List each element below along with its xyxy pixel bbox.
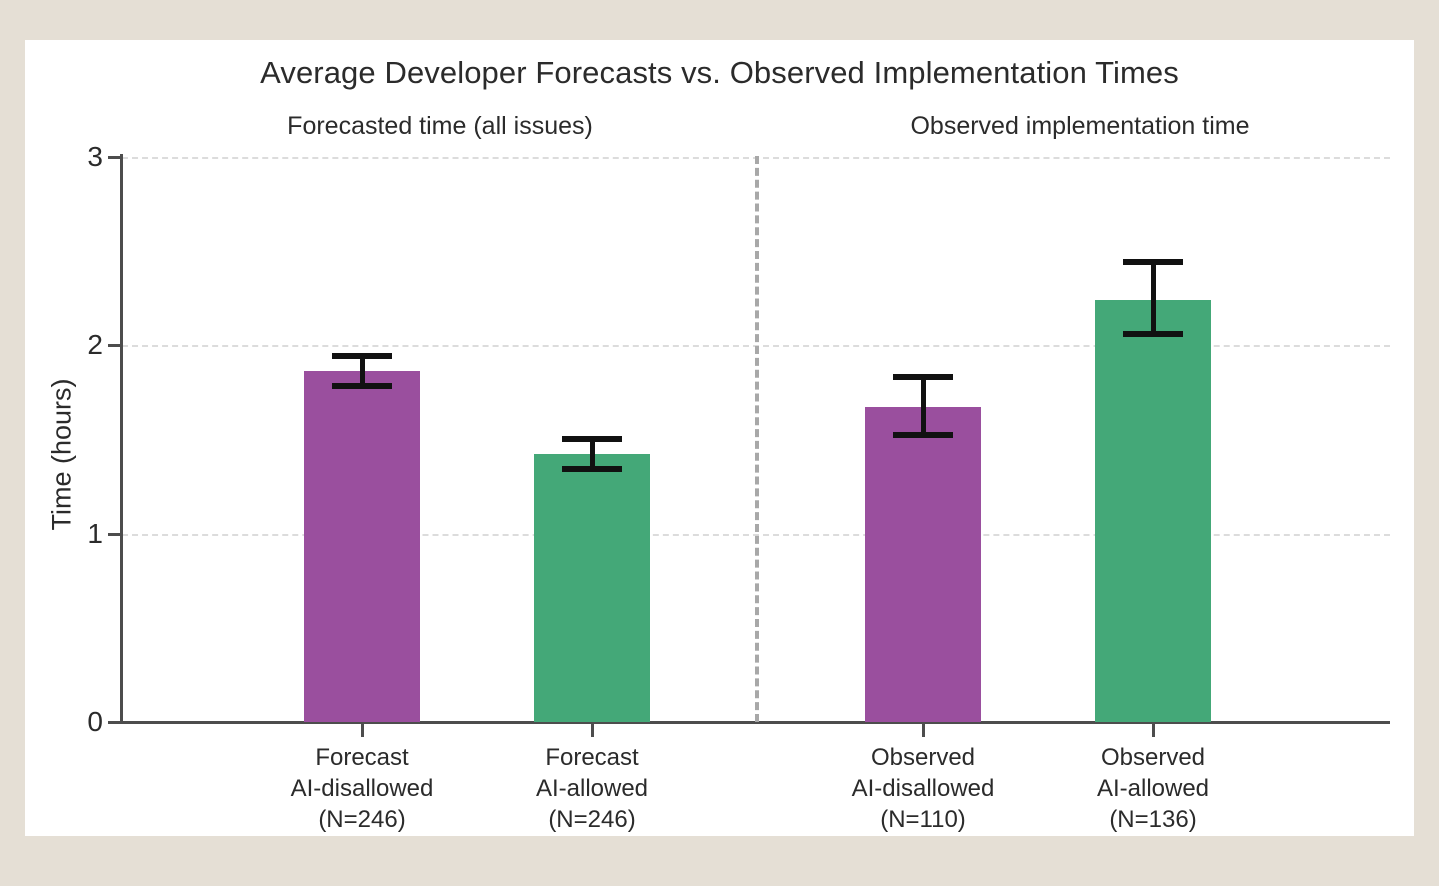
plot-area: 0123 Time (hours) ForecastAI-disallowed(… [25, 40, 1414, 836]
y-tick-mark-2 [108, 344, 121, 347]
x-tick-mark-3 [922, 724, 925, 737]
error-bar-1 [332, 356, 392, 722]
error-bar-line-1 [360, 356, 365, 386]
error-bar-line-4 [1151, 262, 1156, 334]
error-bar-line-3 [921, 377, 926, 435]
x-tick-label-4-line-3: (N=136) [1003, 804, 1303, 835]
x-tick-mark-4 [1152, 724, 1155, 737]
error-bar-cap-upper-3 [893, 374, 953, 380]
error-bar-4 [1123, 262, 1183, 722]
x-tick-label-4-line-1: Observed [1003, 742, 1303, 773]
error-bar-2 [562, 439, 622, 722]
y-tick-label-0: 0 [43, 706, 103, 738]
x-tick-label-4-line-2: AI-allowed [1003, 773, 1303, 804]
error-bar-cap-lower-4 [1123, 331, 1183, 337]
y-tick-label-3: 3 [43, 141, 103, 173]
y-tick-mark-3 [108, 156, 121, 159]
x-tick-label-2: ForecastAI-allowed(N=246) [442, 742, 742, 835]
error-bar-cap-upper-1 [332, 353, 392, 359]
error-bar-line-2 [590, 439, 595, 469]
error-bar-cap-upper-2 [562, 436, 622, 442]
x-tick-label-2-line-3: (N=246) [442, 804, 742, 835]
error-bar-cap-upper-4 [1123, 259, 1183, 265]
y-tick-mark-1 [108, 533, 121, 536]
error-bar-3 [893, 377, 953, 722]
chart-card: Average Developer Forecasts vs. Observed… [25, 40, 1414, 836]
error-bar-cap-lower-2 [562, 466, 622, 472]
error-bar-cap-lower-1 [332, 383, 392, 389]
error-bar-cap-lower-3 [893, 432, 953, 438]
y-axis-line [120, 154, 123, 724]
y-tick-mark-0 [108, 721, 121, 724]
x-tick-label-2-line-1: Forecast [442, 742, 742, 773]
x-tick-mark-1 [361, 724, 364, 737]
x-tick-label-2-line-2: AI-allowed [442, 773, 742, 804]
panel-divider [755, 156, 759, 722]
y-axis-title: Time (hours) [47, 205, 78, 705]
x-tick-mark-2 [591, 724, 594, 737]
x-tick-label-4: ObservedAI-allowed(N=136) [1003, 742, 1303, 835]
